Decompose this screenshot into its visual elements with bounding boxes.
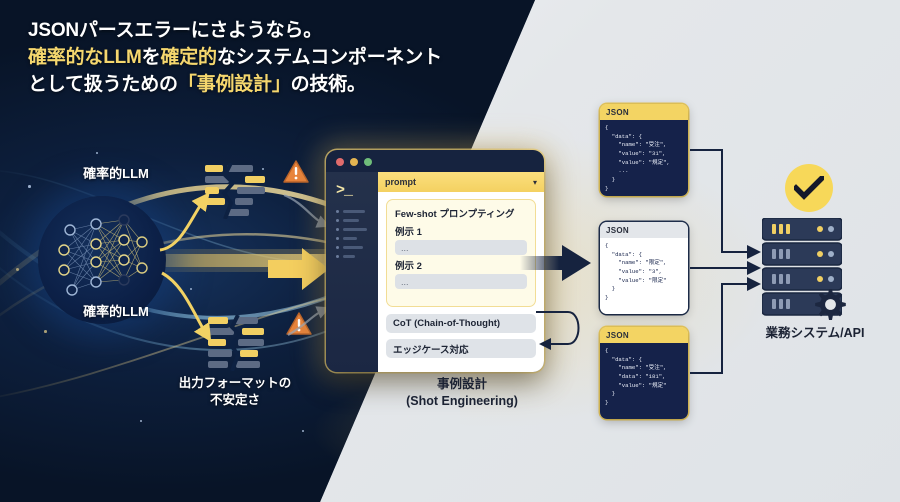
star-dot: [302, 430, 304, 432]
chevron-down-icon[interactable]: ▾: [533, 178, 537, 187]
json-card: JSON { "data": { "name": "限定", "value": …: [600, 222, 688, 314]
label-backend-system: 業務システム/API: [740, 322, 890, 341]
prompt-window[interactable]: >_ prompt ▾ Few-shot プロンプティング 例示 1 ... 例…: [326, 150, 544, 372]
prompt-titlebar: prompt ▾: [378, 172, 544, 192]
star-dot: [140, 420, 142, 422]
maximize-dot-icon[interactable]: [364, 158, 372, 166]
caption-line-2: (Shot Engineering): [372, 393, 552, 410]
option-edge-case[interactable]: エッジケース対応: [386, 339, 536, 358]
headline: JSONパースエラーにさようなら。 確率的なLLMを確定的なシステムコンポーネン…: [28, 18, 528, 99]
terminal-sidebar: >_: [326, 172, 378, 372]
caption-line-1: 事例設計: [372, 376, 552, 393]
star-dot: [28, 185, 31, 188]
close-dot-icon[interactable]: [336, 158, 344, 166]
headline-line-3: として扱うための「事例設計」の技術。: [28, 72, 528, 99]
fewshot-title: Few-shot プロンプティング: [395, 206, 527, 220]
prompt-title: prompt: [385, 177, 416, 187]
star-dot: [16, 268, 19, 271]
minimize-dot-icon[interactable]: [350, 158, 358, 166]
json-card: JSON { "data": { "name": "受注", "value": …: [600, 104, 688, 196]
json-card-body: { "data": { "name": "受注", "data": "181",…: [600, 343, 688, 419]
json-card-title: JSON: [600, 327, 688, 343]
example-2-label: 例示 2: [395, 258, 527, 272]
headline-line-2: 確率的なLLMを確定的なシステムコンポーネント: [28, 45, 528, 72]
headline-line-1: JSONパースエラーにさようなら。: [28, 18, 528, 45]
example-1-label: 例示 1: [395, 224, 527, 238]
check-mark-icon: [794, 176, 824, 200]
gear-icon: [812, 287, 846, 321]
example-1-input[interactable]: ...: [395, 240, 527, 255]
inflow-arrow-icon: [268, 246, 330, 292]
cot-feedback-loop: [534, 300, 596, 362]
star-dot: [44, 330, 47, 333]
option-cot[interactable]: CoT (Chain-of-Thought): [386, 314, 536, 333]
json-card-title: JSON: [600, 104, 688, 120]
fewshot-section: Few-shot プロンプティング 例示 1 ... 例示 2 ...: [386, 199, 536, 307]
outflow-arrow-icon: [520, 243, 592, 283]
terminal-prompt-icon: >_: [336, 182, 352, 199]
success-badge: [785, 164, 833, 212]
json-card: JSON { "data": { "name": "受注", "data": "…: [600, 327, 688, 419]
window-traffic-lights: [336, 158, 372, 166]
caption-shot-engineering: 事例設計 (Shot Engineering): [372, 376, 552, 410]
json-card-title: JSON: [600, 222, 688, 238]
infographic-canvas: JSONパースエラーにさようなら。 確率的なLLMを確定的なシステムコンポーネン…: [0, 0, 900, 502]
example-2-input[interactable]: ...: [395, 274, 527, 289]
star-dot: [96, 152, 98, 154]
json-card-body: { "data": { "name": "限定", "value": "3", …: [600, 238, 688, 314]
json-card-body: { "data": { "name": "受注", "value": "31",…: [600, 120, 688, 196]
